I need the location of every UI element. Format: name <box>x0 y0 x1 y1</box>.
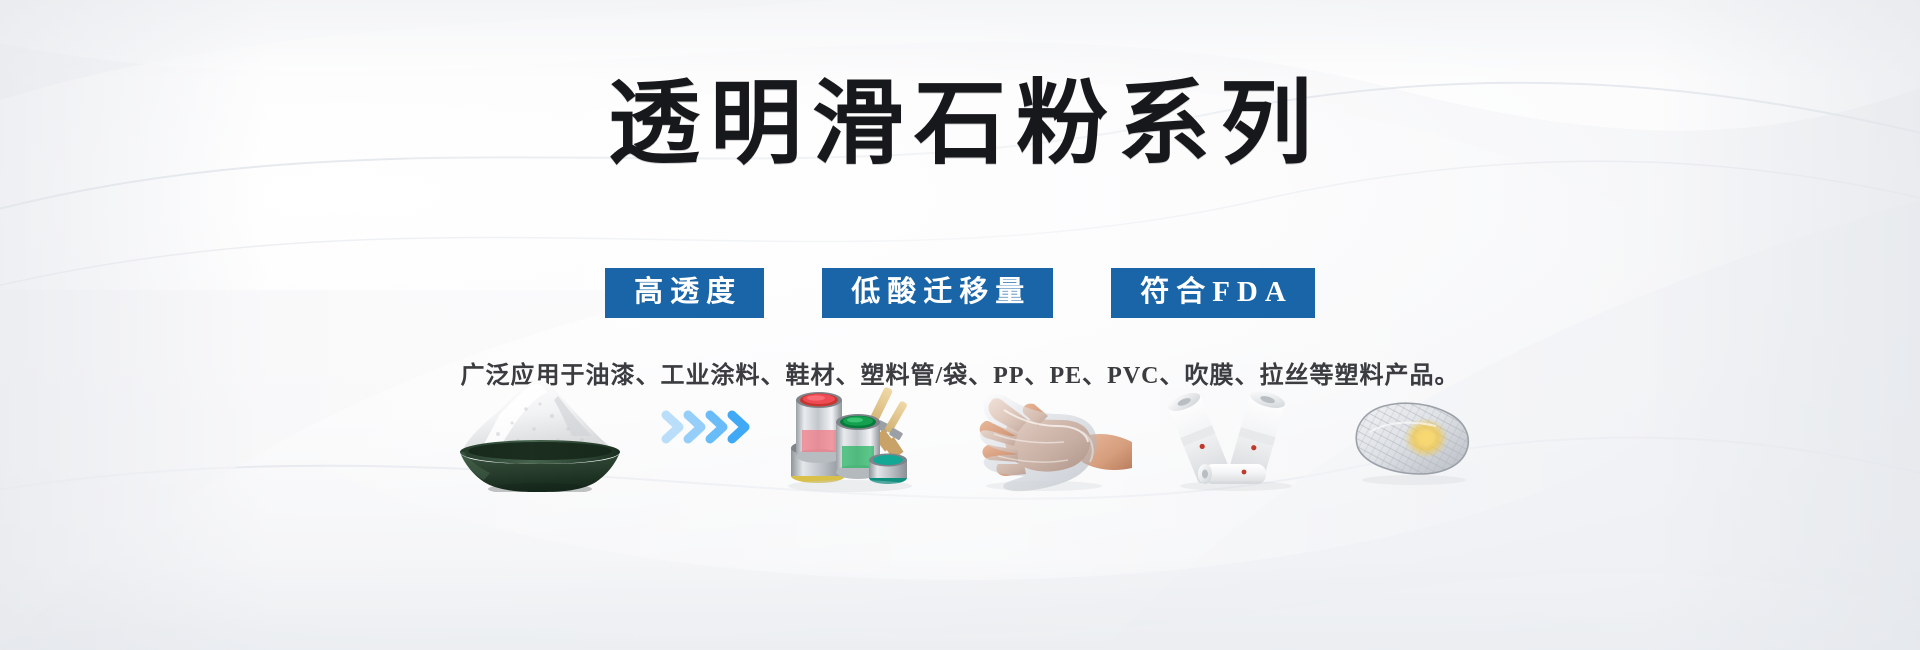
paint-can-teal <box>869 454 907 485</box>
process-arrows <box>660 404 764 450</box>
badge-low-acid-migration[interactable]: 低酸迁移量 <box>822 268 1053 318</box>
badge-high-transparency[interactable]: 高透度 <box>605 268 764 318</box>
talc-powder-bowl <box>440 374 640 492</box>
feature-badge-group: 高透度 低酸迁移量 符合FDA <box>605 268 1315 318</box>
product-image-strip <box>0 352 1920 492</box>
banner-content: 透明滑石粉系列 高透度 低酸迁移量 符合FDA 广泛应用于油漆、工业涂料、鞋材、… <box>0 0 1920 650</box>
film-rolls <box>1160 384 1310 492</box>
badge-fda-compliant[interactable]: 符合FDA <box>1111 268 1315 318</box>
chevron-right-icon-1 <box>666 415 679 439</box>
film-roll-lying <box>1198 464 1266 484</box>
page-title: 透明滑石粉系列 <box>598 78 1322 170</box>
chevron-right-icon-2 <box>688 415 701 439</box>
chevron-right-icon-3 <box>710 415 723 439</box>
gloved-hand <box>964 380 1134 492</box>
shoe-sole <box>1340 386 1480 492</box>
product-banner: 透明滑石粉系列 高透度 低酸迁移量 符合FDA 广泛应用于油漆、工业涂料、鞋材、… <box>0 0 1920 650</box>
paint-cans <box>780 370 930 492</box>
paint-can-red <box>796 392 842 463</box>
chevron-right-icon-4 <box>732 415 745 439</box>
